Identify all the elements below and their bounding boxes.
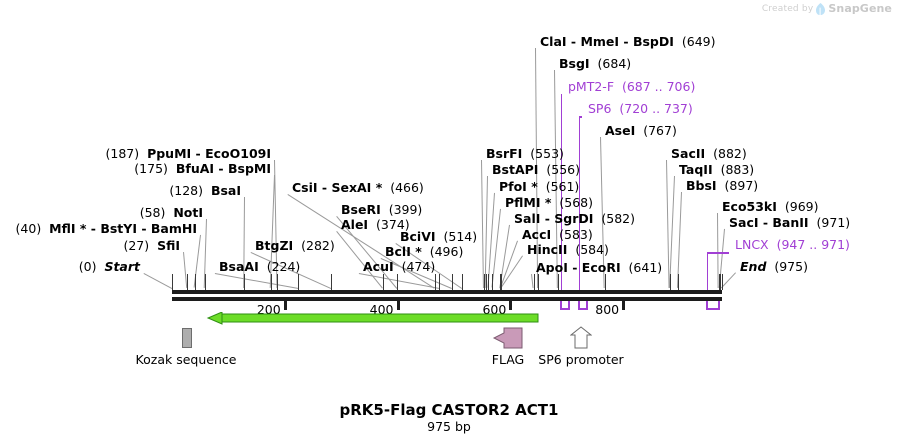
feature-bracket-sp6[interactable]: [578, 301, 588, 310]
ruler-label-800: 800: [595, 302, 619, 317]
site-label-eco53ki[interactable]: Eco53kI (969): [722, 200, 818, 214]
enzyme-tick-bsgi[interactable]: [558, 274, 559, 290]
enzyme-tick-apoi[interactable]: [534, 274, 535, 290]
backbone-strand-bottom: [172, 297, 722, 301]
site-label-acci[interactable]: AccI (583): [522, 228, 593, 242]
enzyme-tick-start[interactable]: [172, 274, 173, 290]
enzyme-tick-bsaai[interactable]: [298, 274, 299, 290]
enzyme-tick-acui[interactable]: [439, 274, 440, 290]
site-label-apoi[interactable]: ApoI - EcoRI (641): [536, 261, 662, 275]
site-label-taqii[interactable]: TaqII (883): [679, 163, 754, 177]
enzyme-tick-noti[interactable]: [205, 274, 206, 290]
kozak-sequence-box: [182, 328, 192, 348]
snapgene-credit: Created by SnapGene: [762, 2, 892, 15]
enzyme-tick-alei[interactable]: [383, 274, 384, 290]
enzyme-tick-bseri[interactable]: [397, 274, 398, 290]
feature-elbow-pmt2f: [561, 94, 562, 96]
sp6-promoter-label: SP6 promoter: [521, 352, 641, 367]
site-label-pfoi[interactable]: PfoI * (561): [499, 180, 579, 194]
ruler-tick-200: [284, 301, 287, 310]
credit-brand: SnapGene: [828, 2, 892, 15]
enzyme-tick-hincii[interactable]: [501, 274, 502, 290]
site-label-csii[interactable]: CsiI - SexAI * (466): [292, 181, 424, 195]
site-label-bsaai[interactable]: BsaAI (224): [219, 260, 300, 274]
site-label-clai[interactable]: ClaI - MmeI - BspDI (649): [540, 35, 715, 49]
plasmid-title: pRK5-Flag CASTOR2 ACT1: [0, 401, 898, 419]
sp6-promoter-arrow: [570, 326, 592, 350]
leader-line-end: [721, 272, 736, 288]
site-label-bsrfi[interactable]: BsrFI (553): [486, 147, 564, 161]
site-label-bseri[interactable]: BseRI (399): [341, 203, 422, 217]
enzyme-tick-bfuai[interactable]: [271, 274, 272, 290]
enzyme-tick-bsai[interactable]: [244, 274, 245, 290]
site-label-bsgi[interactable]: BsgI (684): [559, 57, 631, 71]
leader-line-bstapi: [485, 176, 488, 288]
enzyme-tick-mfli[interactable]: [195, 274, 196, 290]
feature-elbow-lncx: [707, 252, 729, 254]
site-label-bsai[interactable]: (128) BsaI: [169, 184, 241, 198]
feature-label-pmt2f[interactable]: pMT2-F (687 .. 706): [568, 80, 695, 94]
snapgene-leaf-icon: [816, 3, 825, 15]
site-label-bcli[interactable]: BclI * (496): [385, 245, 463, 259]
site-label-bcivi[interactable]: BciVI (514): [400, 230, 477, 244]
enzyme-tick-end[interactable]: [722, 274, 723, 290]
enzyme-tick-sfii[interactable]: [187, 274, 188, 290]
site-label-btgzi[interactable]: BtgZI (282): [255, 239, 335, 253]
site-label-start[interactable]: (0) Start: [79, 260, 140, 274]
site-label-sacii[interactable]: SacII (882): [671, 147, 747, 161]
site-label-bstapi[interactable]: BstAPI (556): [492, 163, 580, 177]
feature-bracket-pmt2f[interactable]: [560, 301, 571, 310]
enzyme-tick-bstapi[interactable]: [486, 274, 487, 290]
enzyme-tick-taqii[interactable]: [670, 274, 671, 290]
kozak-sequence-label: Kozak sequence: [86, 352, 286, 367]
enzyme-tick-ppumi[interactable]: [277, 274, 278, 290]
leader-line-start: [144, 273, 172, 289]
feature-elbow-sp6: [579, 116, 582, 118]
ruler-tick-600: [509, 301, 512, 310]
leader-line-bsrfi: [481, 160, 484, 288]
enzyme-tick-csii[interactable]: [435, 274, 436, 290]
leader-line-bsaai: [215, 273, 299, 289]
enzyme-tick-asei[interactable]: [605, 274, 606, 290]
feature-label-lncx[interactable]: LNCX (947 .. 971): [735, 238, 850, 252]
feature-bracket-lncx[interactable]: [706, 301, 720, 310]
backbone-strand-top: [172, 290, 722, 294]
site-label-bbsi[interactable]: BbsI (897): [686, 179, 758, 193]
site-label-pflmi[interactable]: PflMI * (568): [505, 196, 593, 210]
enzyme-tick-bbsi[interactable]: [678, 274, 679, 290]
site-label-sali[interactable]: SalI - SgrDI (582): [514, 212, 635, 226]
site-label-end[interactable]: End (975): [740, 260, 808, 274]
feature-label-sp6[interactable]: SP6 (720 .. 737): [588, 102, 693, 116]
ruler-tick-800: [622, 301, 625, 310]
site-label-ppumi[interactable]: (187) PpuMI - EcoO109I: [106, 147, 272, 161]
enzyme-tick-clai[interactable]: [538, 274, 539, 290]
enzyme-tick-pflmi[interactable]: [492, 274, 493, 290]
feature-leader-lncx: [707, 252, 708, 290]
site-label-hincii[interactable]: HincII (584): [527, 243, 609, 257]
leader-line-acui: [359, 273, 440, 289]
plasmid-length: 975 bp: [0, 419, 898, 434]
credit-prefix: Created by: [762, 4, 814, 14]
site-label-asei[interactable]: AseI (767): [605, 124, 677, 138]
ruler-tick-400: [397, 301, 400, 310]
enzyme-tick-saci[interactable]: [720, 274, 721, 290]
flag-arrow: [492, 326, 524, 350]
leader-line-taqii: [669, 176, 675, 288]
site-label-bfuai[interactable]: (175) BfuAI - BspMI: [134, 162, 271, 176]
enzyme-tick-bcivi[interactable]: [462, 274, 463, 290]
site-label-saci[interactable]: SacI - BanII (971): [729, 216, 850, 230]
enzyme-tick-pfoi[interactable]: [488, 274, 489, 290]
site-label-noti[interactable]: (58) NotI: [140, 206, 203, 220]
enzyme-tick-bcli[interactable]: [452, 274, 453, 290]
enzyme-tick-btgzi[interactable]: [331, 274, 332, 290]
orf-arrow-green: [205, 312, 540, 326]
site-label-sfii[interactable]: (27) SfiI: [123, 239, 180, 253]
site-label-mfli[interactable]: (40) MflI * - BstYI - BamHI: [16, 222, 197, 236]
plasmid-map-canvas: Created by SnapGene (0) Start(27) SfiI(4…: [0, 0, 898, 441]
site-label-acui[interactable]: AcuI (474): [363, 260, 435, 274]
